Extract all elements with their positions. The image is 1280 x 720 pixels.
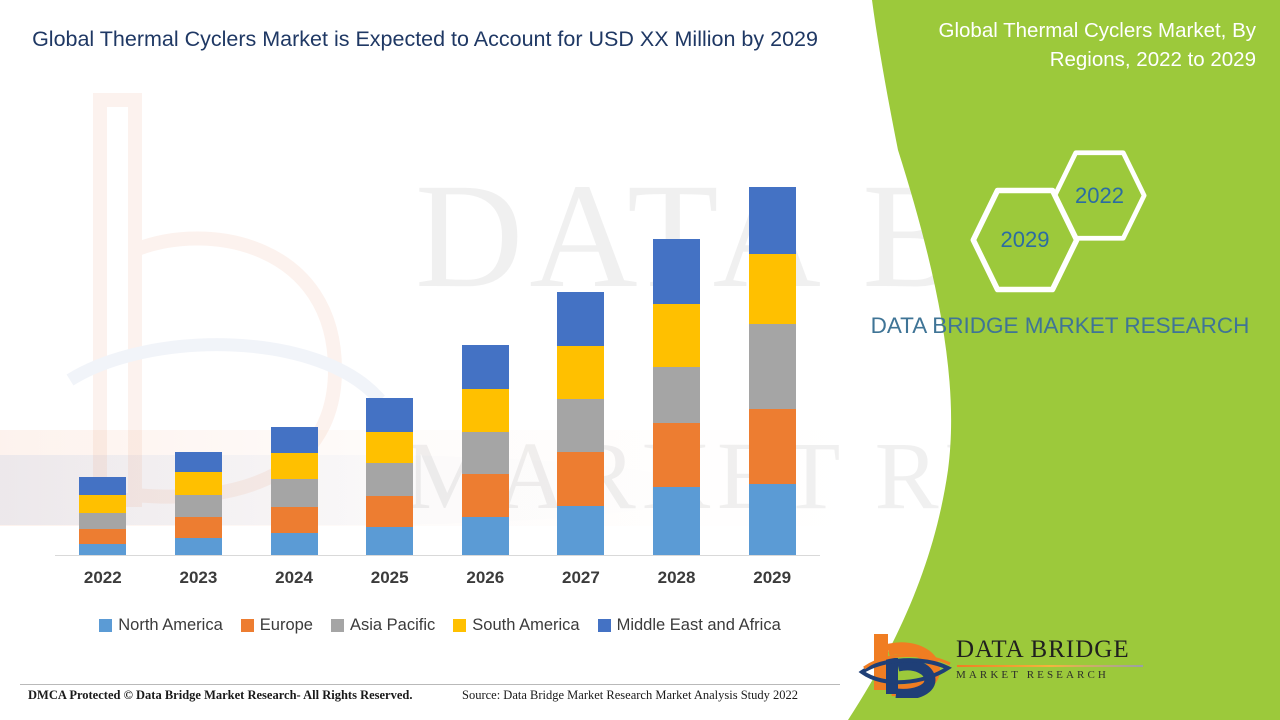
bar-segment xyxy=(79,513,126,529)
bar-segment xyxy=(557,399,604,452)
bar-stack xyxy=(653,239,700,556)
legend-item[interactable]: North America xyxy=(99,616,223,635)
logo-divider xyxy=(957,665,1143,667)
footer-divider xyxy=(20,684,840,685)
bar-segment xyxy=(749,254,796,324)
x-axis-tick-label: 2026 xyxy=(445,568,525,588)
data-bridge-logo-mark-icon xyxy=(858,628,953,698)
chart-title: Global Thermal Cyclers Market is Expecte… xyxy=(30,24,820,55)
bar-stack xyxy=(271,427,318,556)
legend-label: North America xyxy=(118,616,223,635)
bar-segment xyxy=(175,538,222,556)
bar-segment xyxy=(271,533,318,556)
bar-segment xyxy=(462,432,509,474)
bar-segment xyxy=(557,506,604,556)
bar-stack xyxy=(557,292,604,556)
bar-segment xyxy=(653,239,700,304)
legend-swatch-icon xyxy=(331,619,344,632)
bar-segment xyxy=(653,487,700,556)
legend-swatch-icon xyxy=(99,619,112,632)
legend-label: South America xyxy=(472,616,579,635)
bar-segment xyxy=(557,346,604,399)
hexagon-start-year: 2022 xyxy=(1052,148,1147,243)
brand-name: DATA BRIDGE MARKET RESEARCH xyxy=(860,310,1260,342)
bar-segment xyxy=(366,496,413,527)
bar-segment xyxy=(366,432,413,463)
bar-segment xyxy=(79,529,126,544)
branding-panel: Global Thermal Cyclers Market, By Region… xyxy=(840,0,1280,720)
bar-segment xyxy=(462,474,509,517)
legend-item[interactable]: Middle East and Africa xyxy=(598,616,781,635)
x-axis-tick-label: 2029 xyxy=(732,568,812,588)
chart-plot-area xyxy=(55,160,820,556)
chart-x-axis-labels: 20222023202420252026202720282029 xyxy=(55,568,820,596)
logo-text-block: DATA BRIDGE MARKET RESEARCH xyxy=(956,636,1156,681)
bar-segment xyxy=(175,517,222,538)
legend-label: Middle East and Africa xyxy=(617,616,781,635)
legend-label: Europe xyxy=(260,616,313,635)
bar-segment xyxy=(271,427,318,453)
bar-stack xyxy=(462,345,509,556)
hexagon-end-year-label: 2029 xyxy=(1001,227,1050,253)
chart-x-axis-line xyxy=(55,555,820,556)
legend-swatch-icon xyxy=(453,619,466,632)
legend-item[interactable]: South America xyxy=(453,616,579,635)
footer-dmca-notice: DMCA Protected © Data Bridge Market Rese… xyxy=(28,688,413,703)
legend-label: Asia Pacific xyxy=(350,616,435,635)
bar-segment xyxy=(749,409,796,484)
panel-title: Global Thermal Cyclers Market, By Region… xyxy=(866,16,1256,74)
bar-segment xyxy=(366,527,413,556)
bar-stack xyxy=(175,452,222,556)
bar-segment xyxy=(653,367,700,423)
hexagon-start-year-label: 2022 xyxy=(1075,183,1124,209)
bar-segment xyxy=(79,477,126,495)
bar-segment xyxy=(175,452,222,472)
legend-swatch-icon xyxy=(598,619,611,632)
x-axis-tick-label: 2022 xyxy=(63,568,143,588)
chart-legend: North AmericaEuropeAsia PacificSouth Ame… xyxy=(55,616,825,635)
bar-segment xyxy=(462,389,509,432)
bar-stack xyxy=(749,187,796,556)
bar-segment xyxy=(462,517,509,556)
bar-stack xyxy=(79,477,126,556)
bar-segment xyxy=(271,453,318,479)
bar-segment xyxy=(366,463,413,496)
x-axis-tick-label: 2023 xyxy=(158,568,238,588)
bar-segment xyxy=(653,304,700,367)
x-axis-tick-label: 2028 xyxy=(637,568,717,588)
x-axis-tick-label: 2025 xyxy=(350,568,430,588)
bar-stack xyxy=(366,398,413,556)
logo-title: DATA BRIDGE xyxy=(956,636,1156,664)
bar-segment xyxy=(462,345,509,389)
bar-segment xyxy=(653,423,700,487)
legend-swatch-icon xyxy=(241,619,254,632)
logo-subtitle: MARKET RESEARCH xyxy=(956,669,1156,681)
legend-item[interactable]: Asia Pacific xyxy=(331,616,435,635)
legend-item[interactable]: Europe xyxy=(241,616,313,635)
green-panel-shape xyxy=(840,0,1280,720)
bar-segment xyxy=(749,324,796,409)
bar-segment xyxy=(749,484,796,556)
bar-segment xyxy=(271,479,318,507)
bar-segment xyxy=(557,452,604,506)
bar-segment xyxy=(557,292,604,346)
footer-source-note: Source: Data Bridge Market Research Mark… xyxy=(462,688,798,703)
bar-segment xyxy=(175,472,222,495)
bar-segment xyxy=(79,495,126,513)
bar-segment xyxy=(366,398,413,432)
x-axis-tick-label: 2027 xyxy=(541,568,621,588)
bar-segment xyxy=(749,187,796,254)
x-axis-tick-label: 2024 xyxy=(254,568,334,588)
data-bridge-logo: DATA BRIDGE MARKET RESEARCH xyxy=(858,628,1158,700)
bar-segment xyxy=(175,495,222,517)
chart-panel: Global Thermal Cyclers Market is Expecte… xyxy=(0,0,870,720)
bar-segment xyxy=(271,507,318,533)
